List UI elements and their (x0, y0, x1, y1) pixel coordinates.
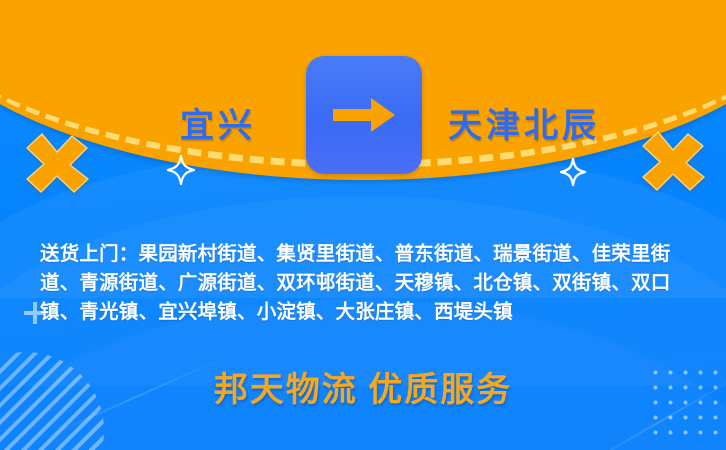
route-destination-label: 天津北辰 (448, 98, 600, 147)
sparkle-left-icon (167, 155, 195, 190)
cross-left-icon (24, 132, 90, 199)
logistics-route-banner: 宜兴 天津北辰 送货上门：果园新村街道、集贤里街道、普东街道、瑞景街道、佳荣里街… (0, 0, 726, 450)
cross-right-icon (640, 130, 706, 197)
route-origin-label: 宜兴 (180, 98, 256, 147)
sparkle-right-icon (560, 158, 586, 191)
coverage-area-text: 送货上门：果园新村街道、集贤里街道、普东街道、瑞景街道、佳荣里街道、青源街道、广… (40, 240, 708, 327)
arrow-right-icon (331, 94, 397, 136)
company-slogan: 邦天物流 优质服务 (0, 362, 726, 411)
route-arrow-badge (306, 56, 422, 174)
